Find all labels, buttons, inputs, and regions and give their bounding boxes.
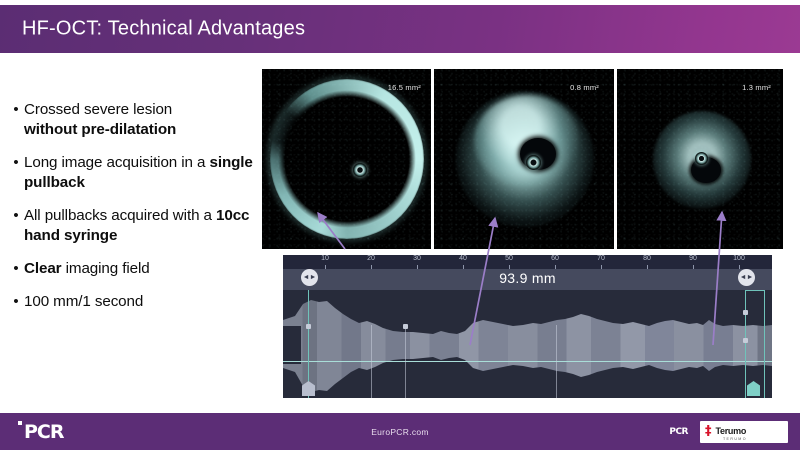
bullet-list: • Crossed severe lesion without pre-dila… (8, 100, 260, 325)
bullet-marker: • (8, 206, 24, 226)
sponsor-name: Terumo (716, 427, 747, 436)
ruler-tick: 50 (498, 255, 520, 269)
sponsor-subtext: T E R U M O (723, 437, 746, 441)
ruler-tick: 10 (314, 255, 336, 269)
list-item: • Crossed severe lesion without pre-dila… (8, 100, 260, 140)
ruler-tick: 20 (360, 255, 382, 269)
frame-marker[interactable] (371, 325, 372, 398)
imaging-catheter (353, 163, 367, 177)
imaging-catheter (695, 152, 708, 165)
list-item: • Long image acquisition in a single pul… (8, 153, 260, 193)
ruler-tick-label: 30 (413, 255, 421, 262)
frame-marker[interactable] (556, 325, 557, 398)
ruler-tick-label: 100 (733, 255, 745, 262)
imaging-catheter (526, 155, 541, 170)
ruler-tick-label: 90 (689, 255, 697, 262)
sponsor-mark-icon: ‡ (705, 425, 712, 438)
bullet-text: Clear imaging field (24, 259, 150, 279)
vessel-wall-ring (270, 79, 424, 239)
ruler-tick-label: 70 (597, 255, 605, 262)
vessel-silhouette (283, 290, 772, 398)
list-item: • 100 mm/1 second (8, 292, 260, 312)
slide-root: HF-OCT: Technical Advantages • Crossed s… (0, 0, 800, 450)
pcr-secondary-logo: PCR (669, 427, 688, 437)
ruler-tick: 30 (406, 255, 428, 269)
ruler-tick: 80 (636, 255, 658, 269)
sponsor-logo: ‡ Terumo T E R U M O (700, 421, 788, 443)
ruler-tick-label: 40 (459, 255, 467, 262)
bullet-tail: imaging field (62, 260, 150, 277)
cursor-nub[interactable] (403, 324, 408, 329)
oct-cross-section-2: 0.8 mm² (434, 69, 614, 249)
area-label: 0.8 mm² (570, 83, 599, 92)
bullet-text: 100 mm/1 second (24, 292, 143, 312)
slide-footer: PCR EuroPCR.com PCR ‡ Terumo T E R U M O (0, 413, 800, 450)
ruler-tick: 70 (590, 255, 612, 269)
slide-header: HF-OCT: Technical Advantages (0, 5, 800, 53)
distal-scrub-handle[interactable]: ◄► (738, 269, 755, 286)
bullet-marker: • (8, 259, 24, 279)
bullet-strong: without pre-dilatation (24, 121, 176, 138)
bullet-lead: All pullbacks acquired with a (24, 207, 216, 224)
area-label: 16.5 mm² (388, 83, 421, 92)
lmode-image[interactable] (283, 290, 772, 398)
ruler-tick-label: 20 (367, 255, 375, 262)
logo-spark-icon (18, 421, 22, 425)
cursor-nub[interactable] (306, 324, 311, 329)
bullet-text: All pullbacks acquired with a 10cc hand … (24, 206, 260, 246)
bullet-marker: • (8, 153, 24, 173)
pullback-length-label: 93.9 mm (283, 270, 772, 286)
ruler-tick-label: 80 (643, 255, 651, 262)
ruler-tick: 60 (544, 255, 566, 269)
bullet-marker: • (8, 100, 24, 120)
left-right-arrows-icon: ◄► (303, 274, 317, 281)
left-right-arrows-icon: ◄► (740, 274, 754, 281)
lmode-centerline (283, 361, 772, 362)
bullet-text: Long image acquisition in a single pullb… (24, 153, 260, 193)
bullet-marker: • (8, 292, 24, 312)
ruler-tick: 40 (452, 255, 474, 269)
proximal-scrub-handle[interactable]: ◄► (301, 269, 318, 286)
cursor-nub[interactable] (743, 338, 748, 343)
ruler-tick-label: 60 (551, 255, 559, 262)
ruler-tick-label: 10 (321, 255, 329, 262)
list-item: • Clear imaging field (8, 259, 260, 279)
bullet-strong: Clear (24, 260, 62, 277)
bullet-lead: 100 mm/1 second (24, 293, 143, 310)
oct-cross-section-3: 1.3 mm² (617, 69, 783, 249)
ruler-tick: 100 (728, 255, 750, 269)
area-label: 1.3 mm² (742, 83, 771, 92)
bullet-lead: Long image acquisition in a (24, 154, 209, 171)
ruler-tick: 90 (682, 255, 704, 269)
cursor-nub[interactable] (743, 310, 748, 315)
distal-selection-box[interactable] (745, 290, 765, 398)
bullet-text: Crossed severe lesion without pre-dilata… (24, 100, 176, 140)
oct-cross-section-1: 16.5 mm² (262, 69, 431, 249)
list-item: • All pullbacks acquired with a 10cc han… (8, 206, 260, 246)
longitudinal-pullback-panel[interactable]: 10 20 30 40 50 60 (283, 255, 772, 398)
distance-ruler[interactable]: 10 20 30 40 50 60 (283, 255, 772, 269)
page-title: HF-OCT: Technical Advantages (22, 18, 305, 41)
ruler-tick-label: 50 (505, 255, 513, 262)
bullet-lead: Crossed severe lesion (24, 101, 172, 118)
frame-marker[interactable] (405, 325, 406, 398)
